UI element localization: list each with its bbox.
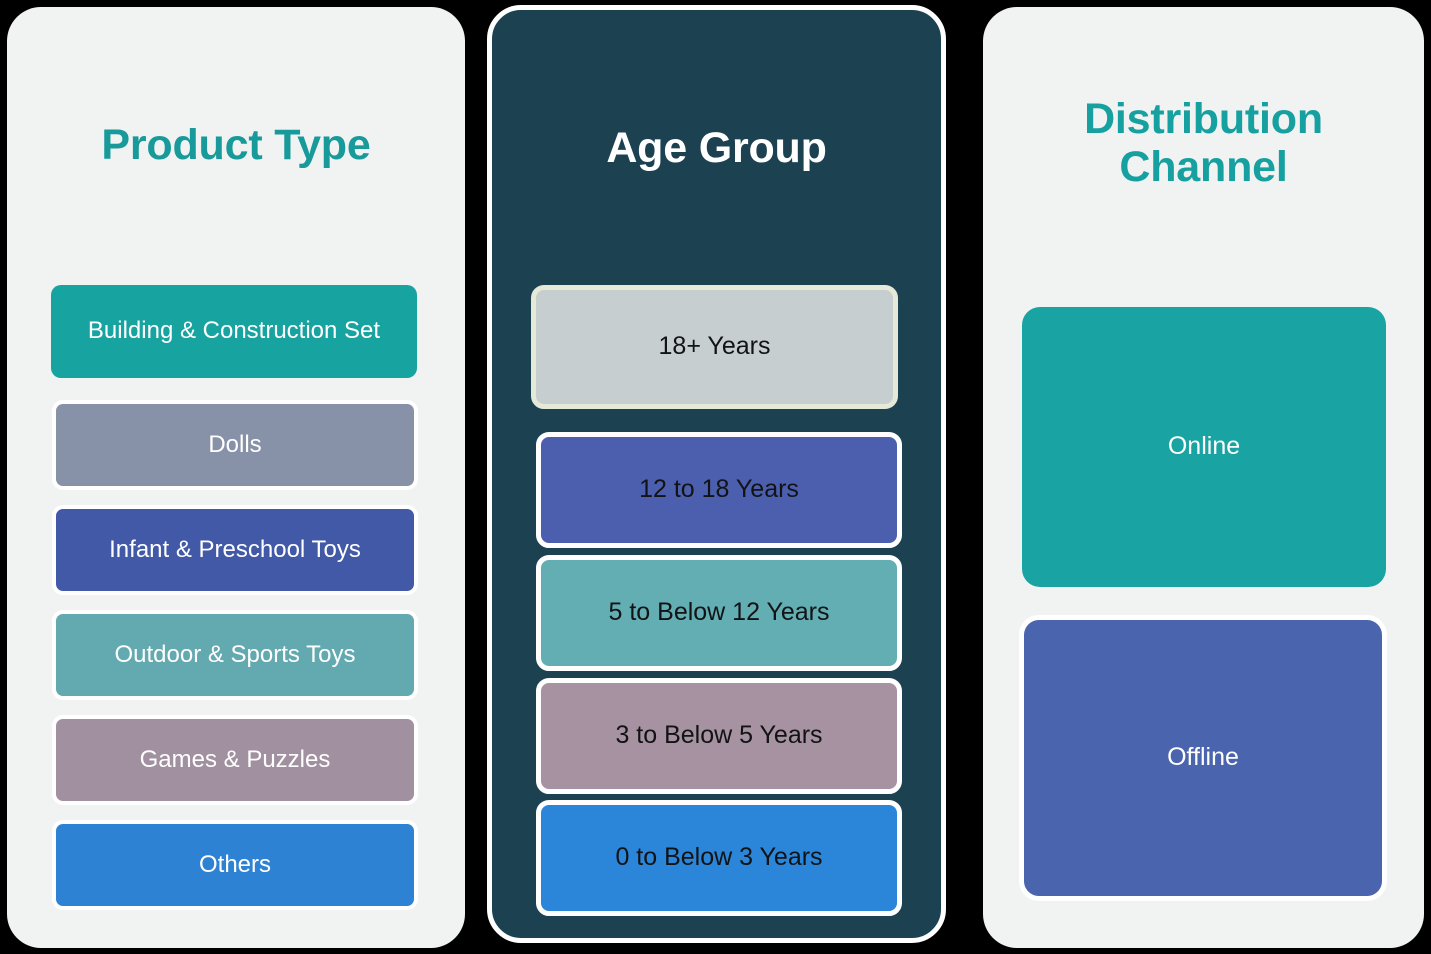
product-type-item-infant-preschool-toys[interactable]: Infant & Preschool Toys [52, 505, 418, 595]
item-label: 3 to Below 5 Years [615, 721, 822, 751]
infographic-canvas: Product Type Building & Construction Set… [0, 0, 1431, 954]
distribution-channel-item-offline[interactable]: Offline [1019, 615, 1387, 901]
item-label: Offline [1167, 743, 1239, 773]
page-title-age-group: Age Group [492, 124, 941, 172]
item-label: Dolls [208, 431, 261, 459]
age-group-item-0-to-below-3-years[interactable]: 0 to Below 3 Years [536, 800, 902, 916]
page-title-product-type: Product Type [7, 121, 465, 169]
item-label: Infant & Preschool Toys [109, 536, 361, 564]
item-label: Building & Construction Set [88, 317, 380, 345]
item-label: 5 to Below 12 Years [609, 598, 830, 628]
page-title-distribution-channel: Distribution Channel [983, 95, 1424, 191]
item-label: 12 to 18 Years [639, 475, 799, 505]
product-type-item-games-puzzles[interactable]: Games & Puzzles [52, 715, 418, 805]
panel-product-type: Product Type Building & Construction Set… [7, 7, 465, 948]
product-type-item-building-construction-set[interactable]: Building & Construction Set [51, 285, 417, 378]
product-type-item-others[interactable]: Others [52, 820, 418, 910]
age-group-item-3-to-below-5-years[interactable]: 3 to Below 5 Years [536, 678, 902, 794]
item-label: Others [199, 851, 271, 879]
panel-distribution-channel: Distribution Channel Online Offline [983, 7, 1424, 948]
item-label: 0 to Below 3 Years [615, 843, 822, 873]
panel-age-group: Age Group 18+ Years 12 to 18 Years 5 to … [487, 5, 946, 943]
product-type-item-dolls[interactable]: Dolls [52, 400, 418, 490]
age-group-item-12-to-18-years[interactable]: 12 to 18 Years [536, 432, 902, 548]
item-label: Online [1168, 432, 1240, 462]
item-label: Outdoor & Sports Toys [114, 641, 355, 669]
product-type-item-outdoor-sports-toys[interactable]: Outdoor & Sports Toys [52, 610, 418, 700]
age-group-item-18-plus-years[interactable]: 18+ Years [531, 285, 898, 409]
distribution-channel-item-online[interactable]: Online [1022, 307, 1386, 587]
item-label: Games & Puzzles [140, 746, 331, 774]
age-group-item-5-to-below-12-years[interactable]: 5 to Below 12 Years [536, 555, 902, 671]
item-label: 18+ Years [659, 332, 771, 362]
